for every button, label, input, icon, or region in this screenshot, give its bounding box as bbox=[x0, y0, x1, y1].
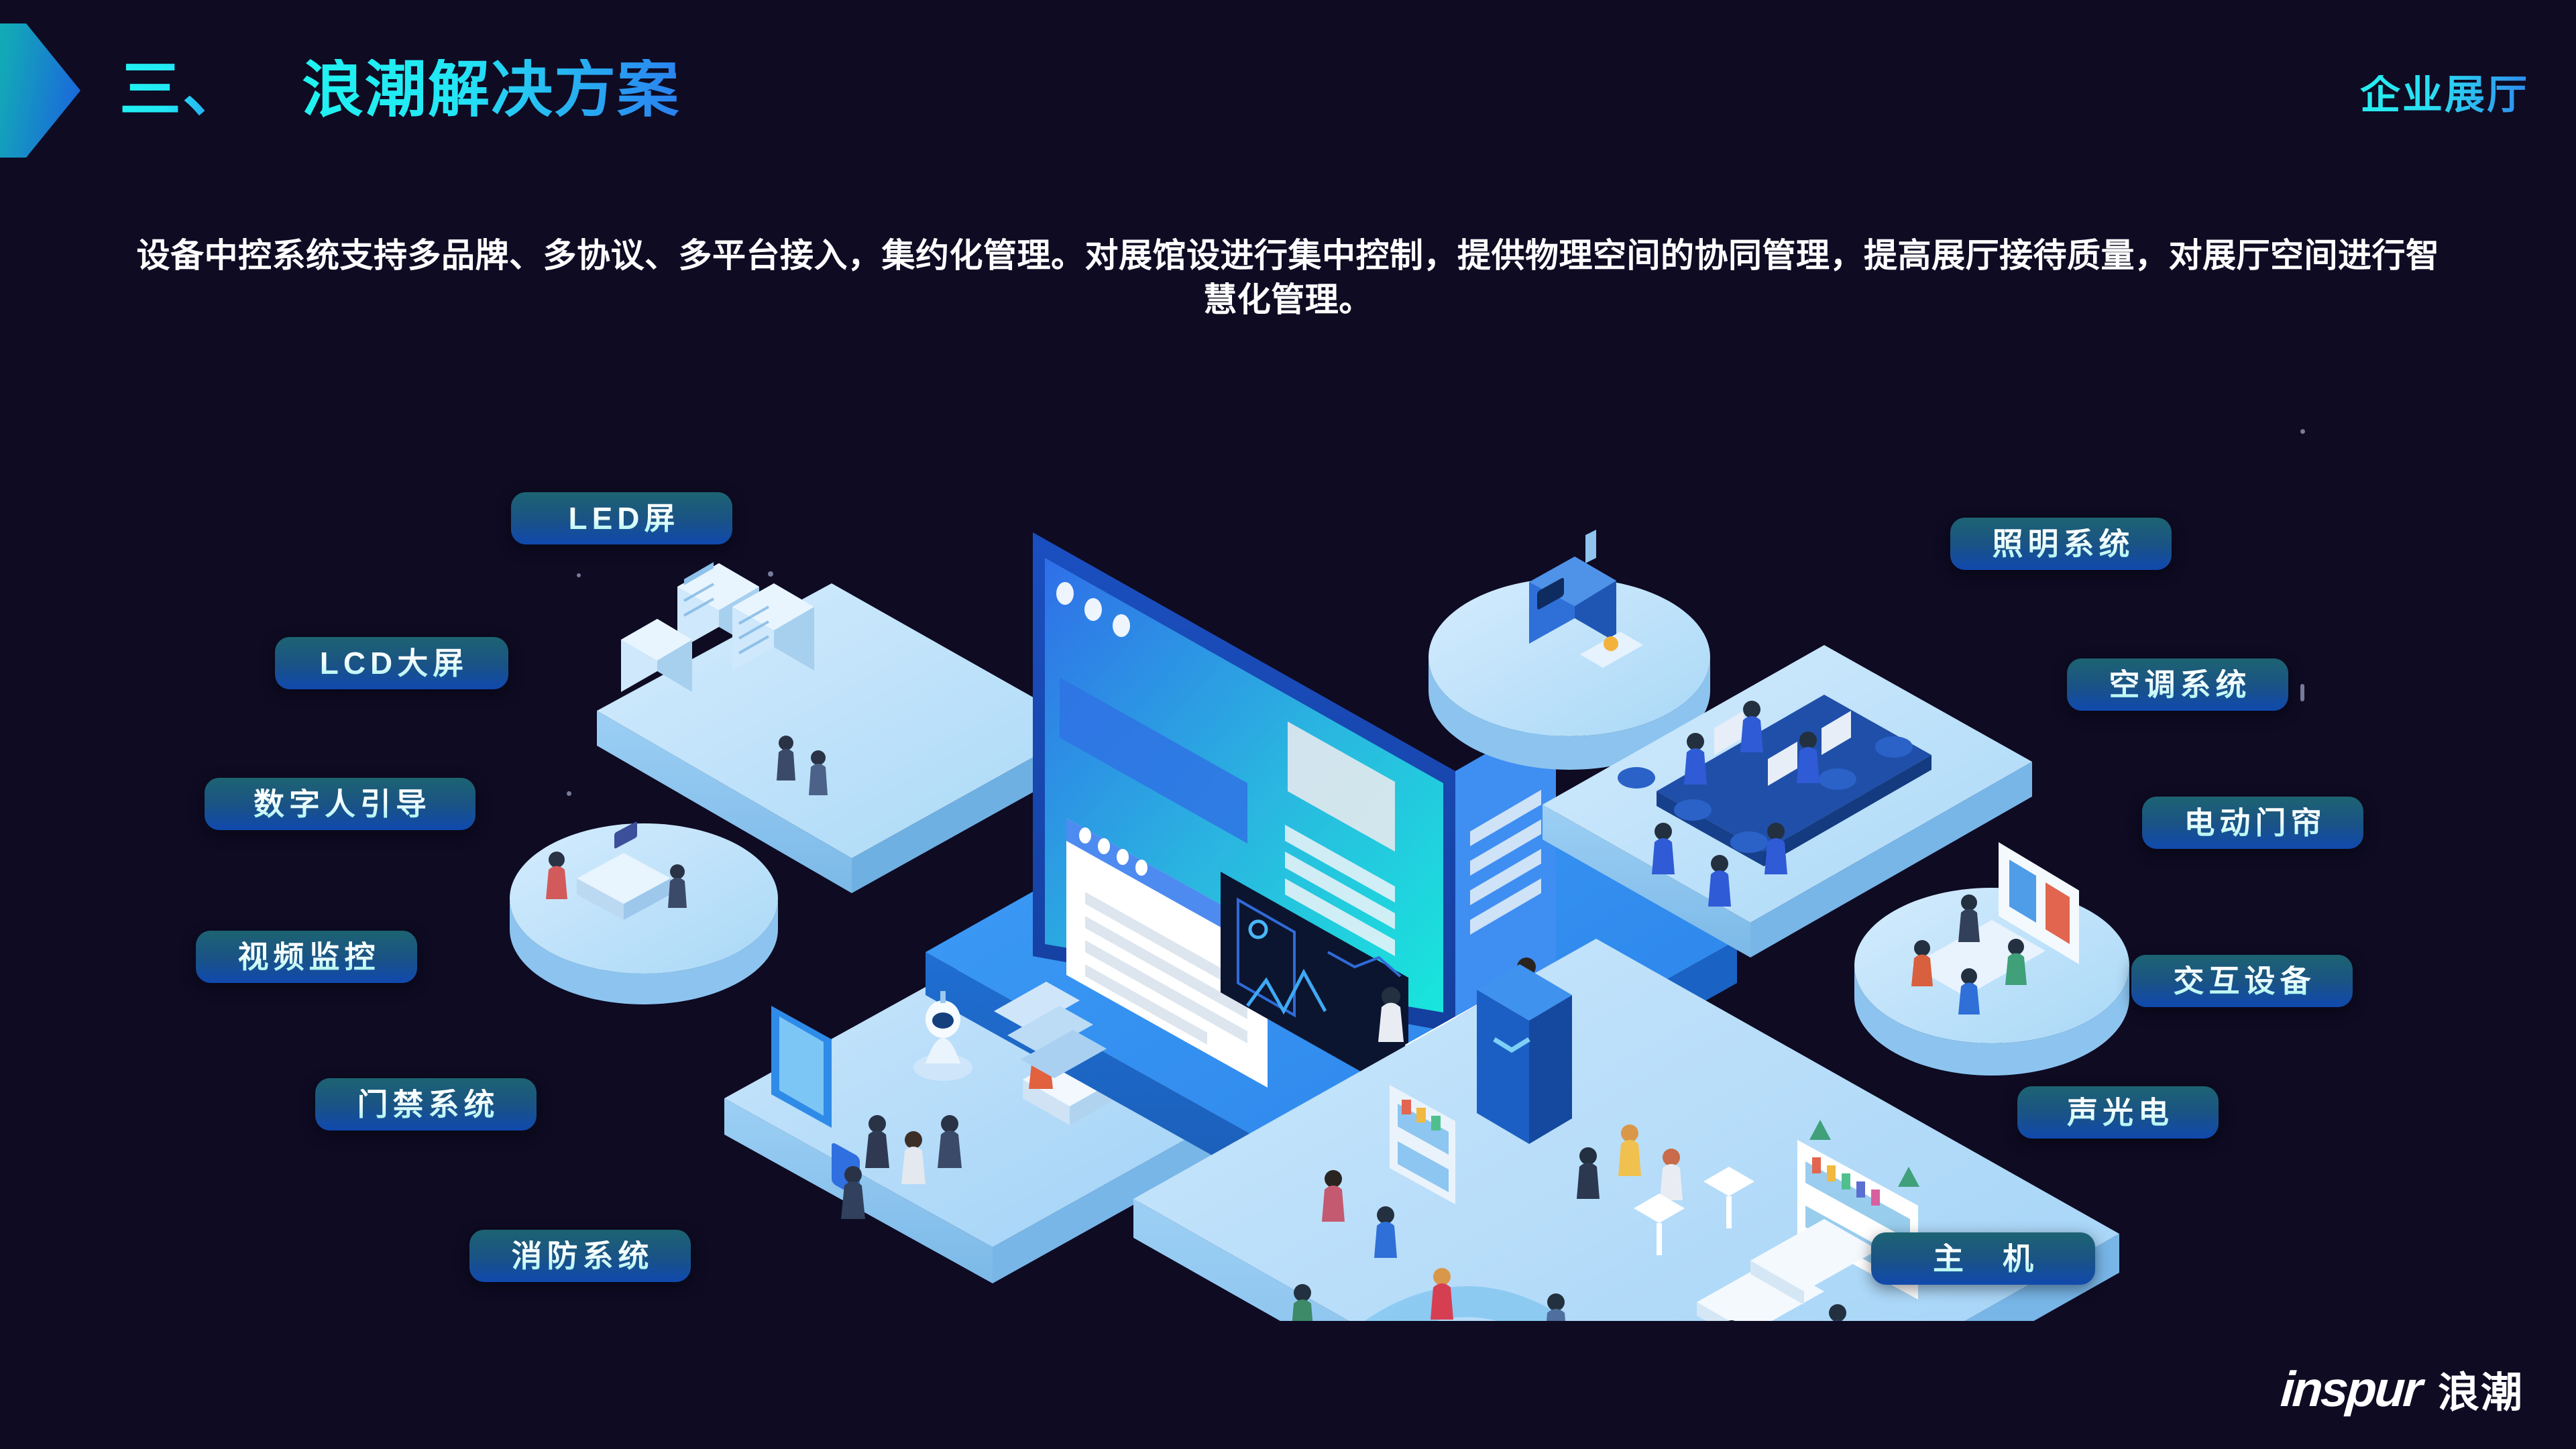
label-av-light-sound[interactable]: 声光电 bbox=[2017, 1086, 2219, 1139]
label-interactive-device[interactable]: 交互设备 bbox=[2131, 955, 2353, 1007]
label-lighting-system-text: 照明系统 bbox=[1988, 528, 2135, 559]
label-lighting-system[interactable]: 照明系统 bbox=[1950, 518, 2172, 570]
label-lcd-large-screen-text: LCD大屏 bbox=[315, 648, 469, 679]
label-hvac-system-text: 空调系统 bbox=[2105, 669, 2251, 700]
info-kiosk bbox=[1477, 964, 1572, 1144]
inspur-logo-cn: 浪潮 bbox=[2438, 1373, 2524, 1414]
label-video-monitor[interactable]: 视频监控 bbox=[196, 931, 417, 983]
platform-reception bbox=[510, 821, 778, 1004]
inspur-logo: inspur 浪潮 bbox=[2281, 1365, 2524, 1414]
label-host-machine[interactable]: 主机 bbox=[1871, 1232, 2095, 1285]
label-motor-curtain-text: 电动门帘 bbox=[2180, 807, 2327, 838]
label-fire-control-text: 消防系统 bbox=[507, 1240, 654, 1271]
label-led-screen-text: LED屏 bbox=[564, 503, 680, 534]
label-fire-control[interactable]: 消防系统 bbox=[469, 1230, 691, 1282]
label-access-control-text: 门禁系统 bbox=[353, 1089, 500, 1120]
lead-paragraph: 设备中控系统支持多品牌、多协议、多平台接入，集约化管理。对展馆设进行集中控制，提… bbox=[127, 233, 2449, 322]
page-tag-badge: 企业展厅 bbox=[2360, 75, 2529, 115]
label-av-light-sound-text: 声光电 bbox=[2062, 1097, 2174, 1128]
platform-classroom bbox=[1854, 842, 2129, 1076]
slide-canvas: 三、 浪潮解决方案 企业展厅 设备中控系统支持多品牌、多协议、多平台接入，集约化… bbox=[0, 0, 2576, 1449]
spark-dot bbox=[2300, 429, 2305, 434]
label-hvac-system[interactable]: 空调系统 bbox=[2067, 658, 2288, 711]
section-index: 三、 bbox=[119, 59, 245, 121]
label-lcd-large-screen[interactable]: LCD大屏 bbox=[275, 637, 508, 689]
chevron-accent-icon bbox=[0, 23, 80, 158]
inspur-logo-mark: inspur bbox=[2279, 1365, 2422, 1414]
label-motor-curtain[interactable]: 电动门帘 bbox=[2142, 797, 2363, 849]
label-digital-human[interactable]: 数字人引导 bbox=[205, 778, 475, 830]
label-digital-human-text: 数字人引导 bbox=[249, 789, 431, 819]
label-interactive-device-text: 交互设备 bbox=[2169, 966, 2316, 996]
page-title: 浪潮解决方案 bbox=[302, 59, 680, 121]
spark-dot bbox=[2300, 684, 2304, 701]
label-host-machine-text: 主机 bbox=[1894, 1243, 2072, 1274]
label-led-screen[interactable]: LED屏 bbox=[511, 492, 732, 544]
label-video-monitor-text: 视频监控 bbox=[233, 941, 380, 972]
label-access-control[interactable]: 门禁系统 bbox=[315, 1078, 537, 1131]
